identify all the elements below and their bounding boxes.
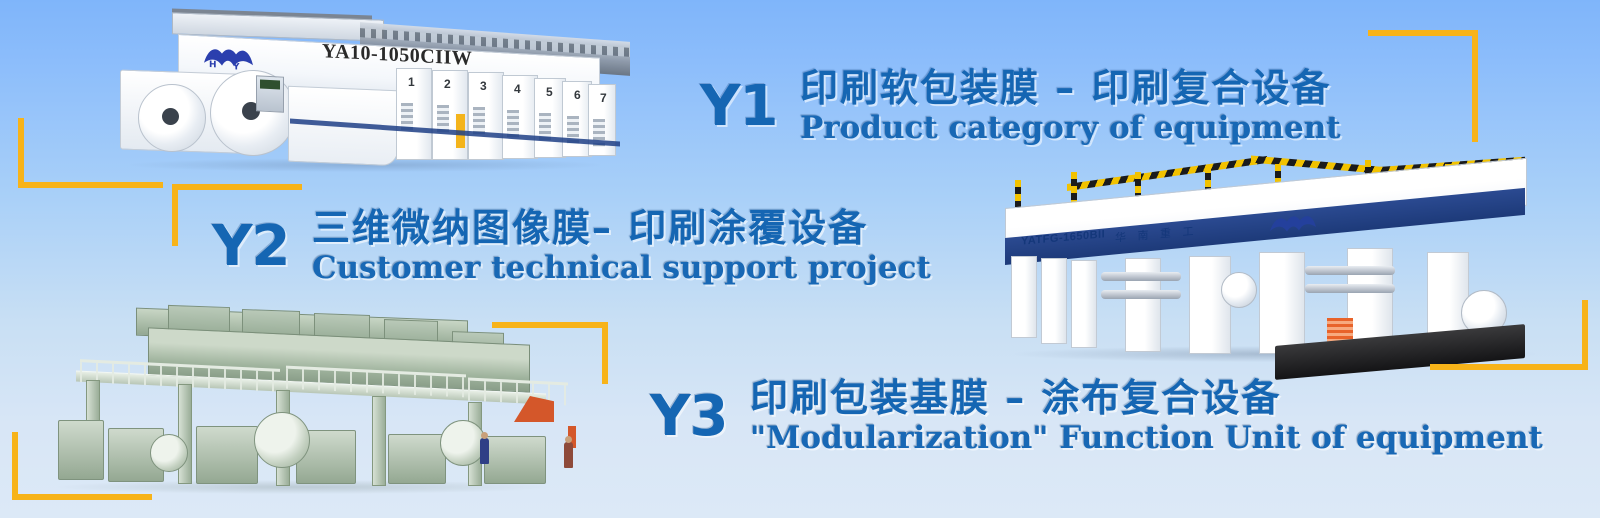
bracket-line-vertical <box>1472 30 1478 142</box>
press-unit-number: 6 <box>574 88 581 102</box>
svg-text:Y: Y <box>232 62 240 71</box>
entry-subtitle-en-y3: "Modularization" Function Unit of equipm… <box>750 421 1543 455</box>
paperline-machine-block <box>196 426 258 484</box>
coater-roller <box>1305 284 1395 293</box>
coater-frame <box>1189 256 1231 354</box>
entry-code-y3: Y3 <box>650 384 728 449</box>
bracket-line-vertical <box>18 118 24 188</box>
press-unit-number: 1 <box>408 75 415 89</box>
bracket-bottom-left <box>12 432 152 500</box>
bracket-left-upper <box>18 118 163 188</box>
press-unit: 1 <box>396 68 432 160</box>
entry-text-y1: 印刷软包装膜 – 印刷复合设备 Product category of equi… <box>800 68 1341 145</box>
bracket-line-vertical <box>12 432 18 500</box>
press-control-panel <box>256 75 284 112</box>
bracket-line-vertical <box>172 184 178 246</box>
bracket-top-right <box>1368 30 1478 142</box>
press-unit-number: 3 <box>480 79 487 93</box>
press-unit-number: 4 <box>514 82 521 96</box>
hy-logo-icon <box>1267 210 1319 237</box>
paperline-roll <box>150 434 188 472</box>
entry-y1[interactable]: Y1 印刷软包装膜 – 印刷复合设备 Product category of e… <box>700 68 1341 145</box>
press-unit-number: 7 <box>600 91 607 105</box>
bracket-line-horizontal <box>18 182 163 188</box>
paperline-roll <box>254 412 310 468</box>
entry-code-y1: Y1 <box>700 74 778 139</box>
entry-subtitle-en-y1: Product category of equipment <box>800 111 1341 145</box>
coater-roller <box>1101 290 1181 299</box>
press-unit-number: 5 <box>546 85 553 99</box>
press-hub-a <box>162 108 179 125</box>
bracket-line-horizontal <box>1368 30 1478 36</box>
paperline-operator <box>564 442 573 468</box>
paperline-column <box>178 384 192 484</box>
paperline-machine-block <box>484 436 546 484</box>
coater-frame <box>1259 252 1305 354</box>
bracket-mid-center <box>492 322 608 384</box>
press-unit: 3 <box>468 72 504 160</box>
press-unit-number: 2 <box>444 77 451 91</box>
svg-text:H: H <box>209 60 217 70</box>
coater-frame <box>1071 260 1097 348</box>
entry-text-y2: 三维微纳图像膜– 印刷涂覆设备 Customer technical suppo… <box>312 208 931 285</box>
entry-title-cn-y2: 三维微纳图像膜– 印刷涂覆设备 <box>312 208 931 249</box>
entry-code-y2: Y2 <box>212 214 290 279</box>
paperline-machine-block <box>388 434 446 484</box>
bracket-line-horizontal <box>12 494 152 500</box>
press-unit: 4 <box>502 75 538 159</box>
bracket-right-lower <box>1430 300 1588 370</box>
equipment-banner: H Y YA10-1050CIIW 1 2 3 4 5 <box>0 0 1600 518</box>
coater-frame <box>1041 258 1067 344</box>
entry-title-cn-y1: 印刷软包装膜 – 印刷复合设备 <box>800 68 1341 109</box>
coater-drum <box>1221 272 1257 308</box>
coater-frame <box>1011 256 1037 338</box>
coater-roller <box>1305 266 1395 275</box>
bracket-line-horizontal <box>492 322 608 328</box>
paperline-column <box>372 396 386 486</box>
entry-y3[interactable]: Y3 印刷包装基膜 – 涂布复合设备 "Modularization" Func… <box>650 378 1543 455</box>
bracket-line-vertical <box>602 322 608 384</box>
bracket-line-horizontal <box>172 184 302 190</box>
bracket-line-vertical <box>1582 300 1588 370</box>
paperline-operator <box>480 438 489 464</box>
hy-logo-icon: H Y <box>200 43 256 72</box>
entry-title-cn-y3: 印刷包装基膜 – 涂布复合设备 <box>750 378 1543 419</box>
entry-text-y3: 印刷包装基膜 – 涂布复合设备 "Modularization" Functio… <box>750 378 1543 455</box>
entry-y2[interactable]: Y2 三维微纳图像膜– 印刷涂覆设备 Customer technical su… <box>212 208 931 285</box>
bracket-line-horizontal <box>1430 364 1588 370</box>
entry-subtitle-en-y2: Customer technical support project <box>312 251 931 285</box>
coater-roller <box>1101 272 1181 281</box>
